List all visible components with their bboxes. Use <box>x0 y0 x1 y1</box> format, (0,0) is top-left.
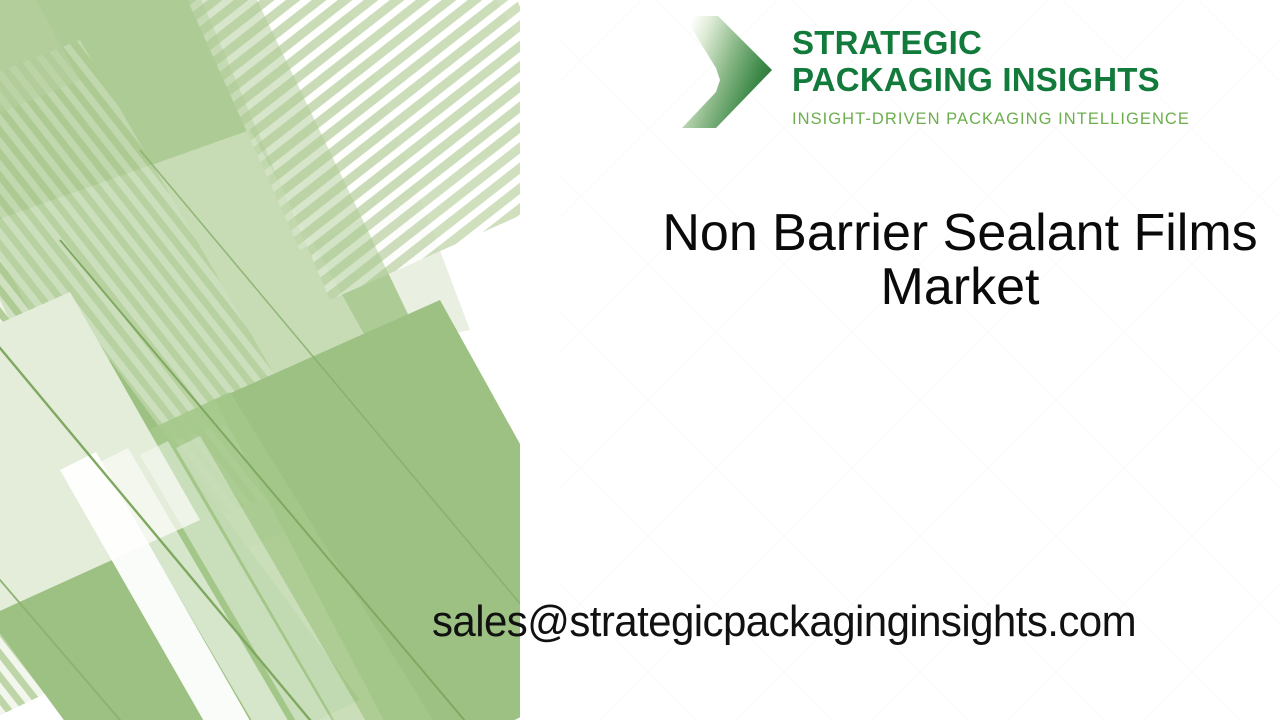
contact-email[interactable]: sales@strategicpackaginginsights.com <box>432 596 1136 648</box>
page-title: Non Barrier Sealant Films Market <box>620 206 1280 314</box>
logo-tagline: INSIGHT-DRIVEN PACKAGING INTELLIGENCE <box>792 110 1190 129</box>
chevron-arrow-mark-icon <box>676 12 776 132</box>
logo-wordmark-line-1: STRATEGIC <box>792 24 1190 61</box>
presentation-slide: STRATEGIC PACKAGING INSIGHTS INSIGHT-DRI… <box>0 0 1280 720</box>
logo-wordmark-line-2: PACKAGING INSIGHTS <box>792 61 1190 98</box>
brand-logo: STRATEGIC PACKAGING INSIGHTS INSIGHT-DRI… <box>676 12 1196 138</box>
